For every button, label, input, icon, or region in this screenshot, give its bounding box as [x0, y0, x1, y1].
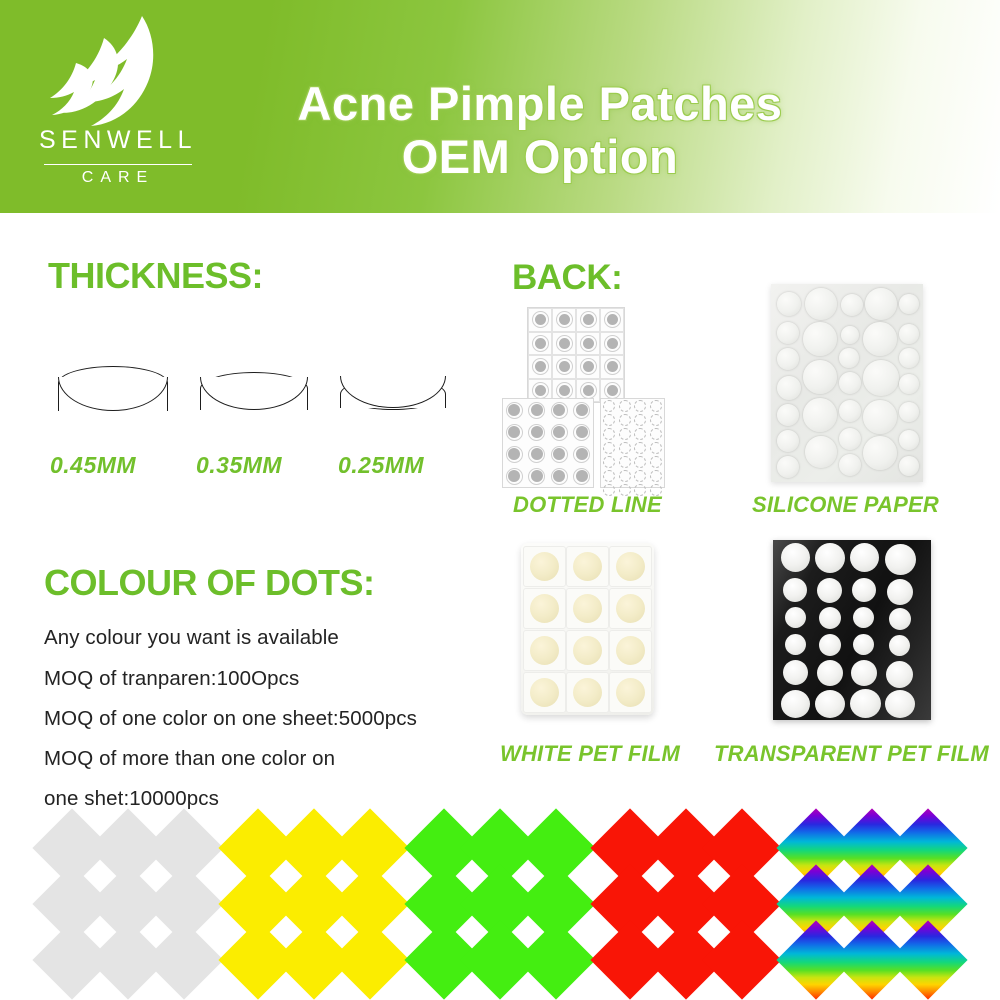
- colour-swatch-diamond: [888, 920, 967, 999]
- flame-leaf-logo-icon: [46, 14, 176, 132]
- page-header: SENWELL CARE Acne Pimple Patches OEM Opt…: [0, 0, 1000, 213]
- colour-swatch-transparent: [44, 820, 204, 980]
- transparent-pet-film-photo: [773, 540, 931, 720]
- title-line-2: OEM Option: [210, 131, 870, 184]
- white-pet-film-photo: [521, 543, 654, 715]
- page-title: Acne Pimple Patches OEM Option: [210, 78, 870, 183]
- back-label-dotted-line: DOTTED LINE: [513, 492, 662, 518]
- colour-swatch-diamond: [702, 920, 781, 999]
- colour-of-dots-line-0: Any colour you want is available: [44, 626, 339, 650]
- thickness-label-1: 0.35MM: [196, 452, 282, 479]
- brand-name: SENWELL: [28, 126, 208, 155]
- colour-of-dots-line-3: MOQ of more than one color on: [44, 747, 335, 771]
- colour-swatch-yellow: [230, 820, 390, 980]
- back-heading: BACK:: [512, 258, 622, 298]
- thickness-disc-0: [58, 366, 168, 428]
- infographic-page: SENWELL CARE Acne Pimple Patches OEM Opt…: [0, 0, 1000, 1000]
- brand-logo: SENWELL CARE: [28, 14, 208, 192]
- colour-of-dots-heading: COLOUR OF DOTS:: [44, 562, 374, 604]
- back-label-silicone-paper: SILICONE PAPER: [752, 492, 939, 518]
- colour-of-dots-line-4: one shet:10000pcs: [44, 787, 219, 811]
- dotted-line-sheet-left: [502, 398, 594, 488]
- colour-swatch-rainbow: [788, 820, 948, 980]
- thickness-disc-1: [200, 372, 308, 428]
- thickness-disc-2: [340, 378, 446, 426]
- colour-swatch-green: [416, 820, 576, 980]
- thickness-heading: THICKNESS:: [48, 255, 263, 297]
- colour-of-dots-line-2: MOQ of one color on one sheet:5000pcs: [44, 707, 417, 731]
- colour-swatch-diamond: [516, 920, 595, 999]
- thickness-label-2: 0.25MM: [338, 452, 424, 479]
- colour-of-dots-line-1: MOQ of tranparen:100Opcs: [44, 667, 299, 691]
- brand-divider: [44, 164, 192, 165]
- brand-sub: CARE: [28, 169, 208, 187]
- back-label-white-pet-film: WHITE PET FILM: [500, 741, 680, 767]
- dotted-line-sheet-top: [527, 307, 625, 403]
- thickness-label-0: 0.45MM: [50, 452, 136, 479]
- title-line-1: Acne Pimple Patches: [210, 78, 870, 131]
- colour-swatch-diamond: [144, 920, 223, 999]
- silicone-paper-photo: [771, 284, 923, 482]
- colour-swatch-diamond: [330, 920, 409, 999]
- back-label-transparent-pet-film: TRANSPARENT PET FILM: [714, 741, 989, 767]
- dotted-line-sheet-right: [600, 398, 665, 488]
- colour-swatch-red: [602, 820, 762, 980]
